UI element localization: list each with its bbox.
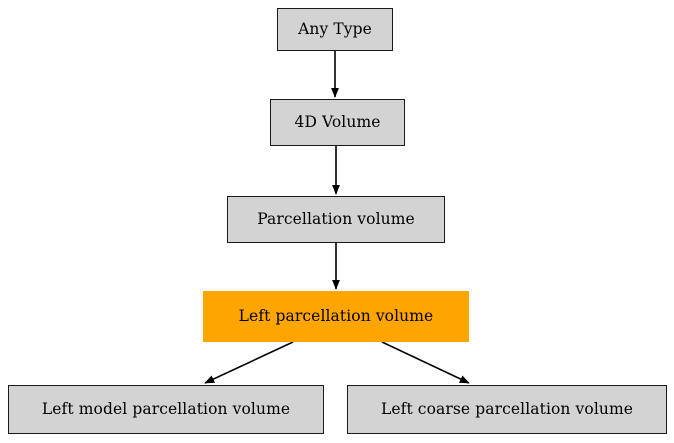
node-label-4d-volume: 4D Volume	[292, 115, 382, 131]
node-left-model-parcellation-volume[interactable]: Left model parcellation volume	[8, 385, 324, 434]
node-4d-volume[interactable]: 4D Volume	[270, 99, 405, 146]
node-left-coarse-parcellation-volume[interactable]: Left coarse parcellation volume	[347, 385, 667, 434]
node-label-parcellation-volume: Parcellation volume	[255, 212, 417, 228]
node-parcellation-volume[interactable]: Parcellation volume	[227, 196, 445, 243]
edge-left-parcellation-volume-to-left-model-parcellation-volume	[205, 342, 293, 383]
node-label-left-model-parcellation-volume: Left model parcellation volume	[40, 402, 292, 418]
edge-left-parcellation-volume-to-left-coarse-parcellation-volume	[382, 342, 469, 383]
diagram-canvas: Any Type 4D Volume Parcellation volume L…	[0, 0, 674, 443]
node-any-type[interactable]: Any Type	[277, 8, 393, 51]
node-label-left-parcellation-volume: Left parcellation volume	[237, 309, 436, 325]
node-label-left-coarse-parcellation-volume: Left coarse parcellation volume	[379, 402, 635, 418]
node-left-parcellation-volume[interactable]: Left parcellation volume	[203, 291, 469, 342]
node-label-any-type: Any Type	[296, 22, 374, 38]
